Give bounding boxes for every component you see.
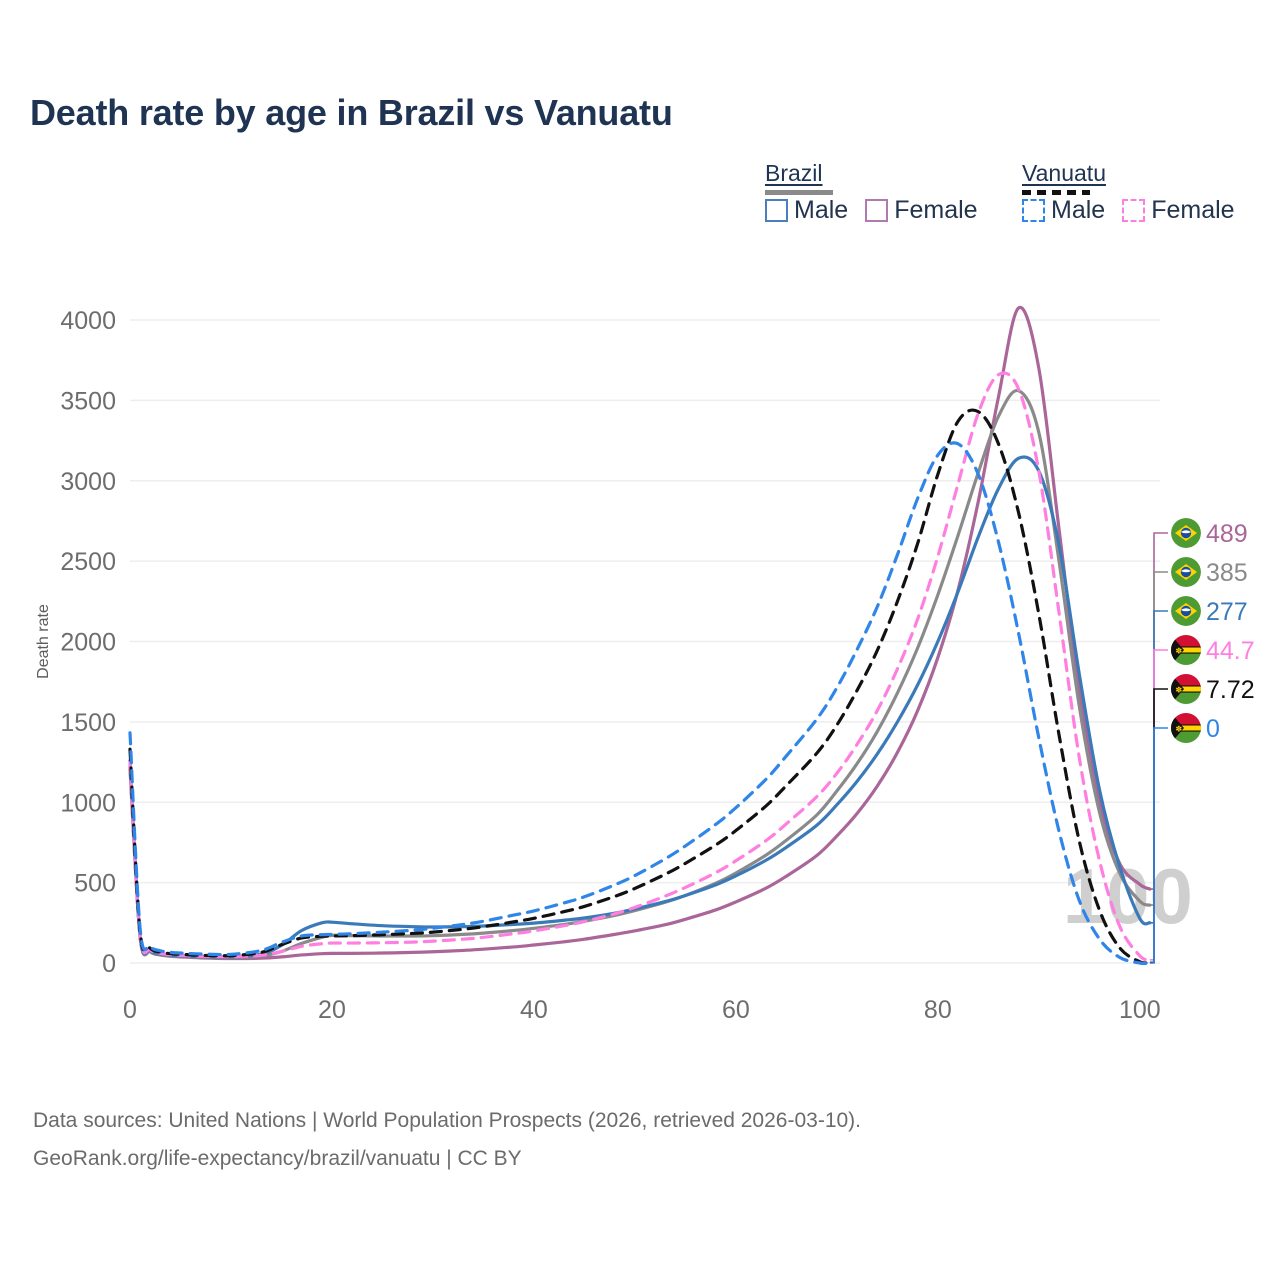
legend-item-brazil-male[interactable]: Male — [765, 198, 848, 223]
legend-swatch-icon — [1122, 199, 1145, 222]
x-axis-ticks: 020406080100 — [123, 996, 1161, 1024]
legend-item-vanuatu-male[interactable]: Male — [1022, 198, 1105, 223]
x-tick-label: 80 — [924, 996, 952, 1024]
x-tick-label: 60 — [722, 996, 750, 1024]
end-label-value: 7.72 — [1206, 676, 1255, 704]
watermark: 100 — [1063, 852, 1193, 940]
gridlines — [130, 320, 1160, 963]
legend-group-brazil: Brazil Male Female — [765, 160, 833, 195]
footer-attribution: GeoRank.org/life-expectancy/brazil/vanua… — [33, 1140, 861, 1178]
svg-text:✽: ✽ — [1176, 686, 1183, 695]
y-tick-label: 0 — [102, 950, 116, 978]
legend-country-brazil[interactable]: Brazil — [765, 160, 833, 186]
end-label-value: 44.7 — [1206, 637, 1255, 665]
x-tick-label: 0 — [123, 996, 137, 1024]
legend-item-label: Female — [1151, 198, 1234, 223]
end-label-leader — [1150, 533, 1168, 889]
legend-item-vanuatu-female[interactable]: Female — [1122, 198, 1234, 223]
x-tick-label: 20 — [318, 996, 346, 1024]
x-tick-label: 40 — [520, 996, 548, 1024]
legend-swatch-icon — [765, 199, 788, 222]
page-title: Death rate by age in Brazil vs Vanuatu — [30, 92, 673, 134]
y-tick-label: 4000 — [60, 307, 116, 335]
watermark-text: 100 — [1063, 852, 1193, 940]
y-tick-label: 3000 — [60, 468, 116, 496]
y-tick-label: 2500 — [60, 548, 116, 576]
end-label-value: 489 — [1206, 520, 1248, 548]
legend-items-vanuatu: Male Female — [1022, 198, 1235, 223]
series-line-brazil_female — [130, 307, 1150, 958]
legend-rule-vanuatu — [1022, 190, 1090, 195]
legend-item-label: Female — [894, 198, 977, 223]
svg-text:✽: ✽ — [1176, 725, 1183, 734]
legend-swatch-icon — [865, 199, 888, 222]
legend-items-brazil: Male Female — [765, 198, 978, 223]
x-axis-label: Age — [631, 1058, 660, 1060]
y-axis-ticks: 05001000150020002500300035004000 — [60, 307, 116, 978]
footer-data-sources: Data sources: United Nations | World Pop… — [33, 1102, 861, 1140]
y-axis-label: Death rate — [35, 604, 52, 679]
y-tick-label: 2000 — [60, 629, 116, 657]
y-tick-label: 1000 — [60, 789, 116, 817]
legend-group-vanuatu: Vanuatu Male Female — [1022, 160, 1106, 195]
end-label-value: 0 — [1206, 715, 1220, 743]
legend-country-vanuatu[interactable]: Vanuatu — [1022, 160, 1106, 186]
death-rate-line-chart: 100 05001000150020002500300035004000 020… — [0, 260, 1280, 1060]
series-lines — [130, 307, 1150, 963]
legend-rule-brazil — [765, 190, 833, 195]
x-tick-label: 100 — [1119, 996, 1161, 1024]
end-label-value: 277 — [1206, 598, 1248, 626]
end-labels: 489385277✽44.7✽7.72✽0 — [1171, 518, 1255, 743]
y-tick-label: 500 — [74, 870, 116, 898]
legend-item-label: Male — [1051, 198, 1105, 223]
legend-swatch-icon — [1022, 199, 1045, 222]
legend-item-brazil-female[interactable]: Female — [865, 198, 977, 223]
svg-text:✽: ✽ — [1176, 647, 1183, 656]
chart-legend: Brazil Male Female Vanuatu Male — [760, 160, 1260, 240]
footer: Data sources: United Nations | World Pop… — [33, 1102, 861, 1178]
legend-item-label: Male — [794, 198, 848, 223]
y-tick-label: 1500 — [60, 709, 116, 737]
y-tick-label: 3500 — [60, 387, 116, 415]
end-label-value: 385 — [1206, 559, 1248, 587]
